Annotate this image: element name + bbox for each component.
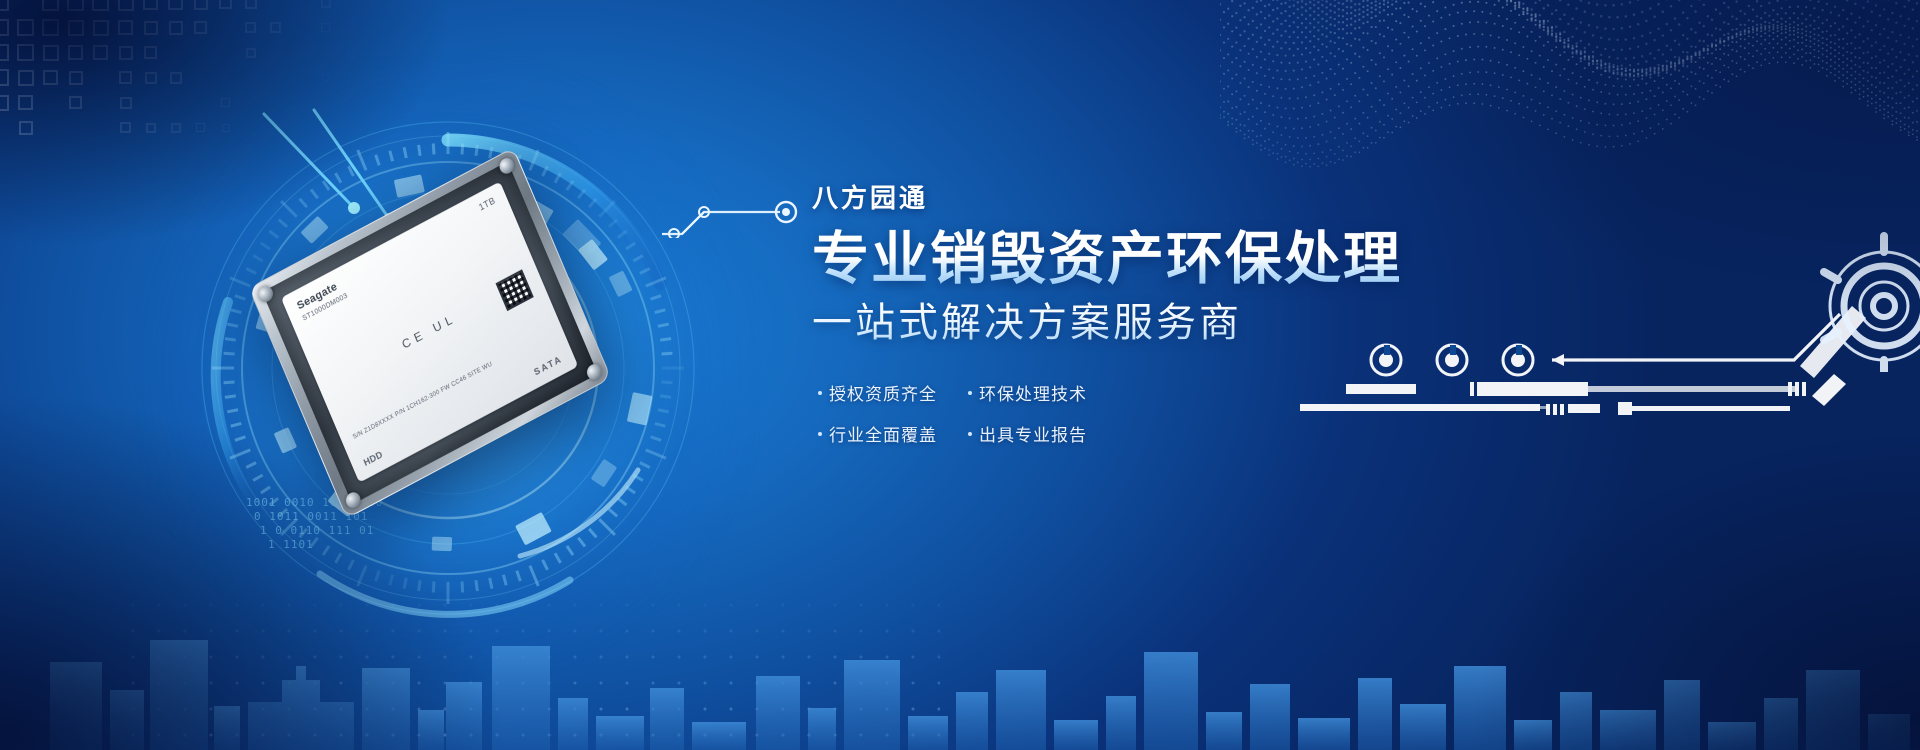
bullet-dot-icon (818, 391, 822, 395)
mosaic-square (69, 71, 83, 85)
feature-item: 出具专业报告 (968, 421, 1096, 446)
mosaic-square (0, 0, 9, 11)
feature-label: 出具专业报告 (979, 421, 1087, 446)
mosaic-square (0, 44, 9, 61)
feature-label: 行业全面覆盖 (829, 421, 937, 446)
mosaic-square (347, 49, 355, 57)
mosaic-square (397, 24, 404, 31)
feature-item: 环保处理技术 (968, 380, 1096, 405)
qr-code-icon (496, 269, 534, 311)
mosaic-square (17, 19, 34, 36)
mosaic-square (68, 20, 84, 36)
mosaic-square (321, 23, 330, 32)
bullet-dot-icon (968, 432, 972, 436)
hero-copy: 八方园通 专业销毁资产环保处理 一站式解决方案服务商 授权资质齐全环保处理技术行… (812, 182, 1512, 446)
node-connector-line-icon (660, 178, 830, 238)
hdd-label-interface: SATA (532, 353, 563, 377)
bullet-dot-icon (818, 432, 822, 436)
mosaic-square (42, 19, 59, 36)
mosaic-square (0, 69, 9, 86)
mosaic-square (42, 0, 59, 11)
mosaic-square (119, 46, 133, 60)
mosaic-square (93, 45, 108, 60)
mosaic-square (245, 22, 256, 33)
mosaic-square (0, 19, 9, 36)
feature-item: 行业全面覆盖 (818, 421, 946, 446)
mosaic-square (194, 21, 207, 34)
hero-banner: 1001 0010 1001 100 0 1011 0011 101 1 0 0… (0, 0, 1920, 750)
mosaic-square (118, 0, 134, 11)
mosaic-square (18, 95, 33, 110)
mosaic-square (321, 0, 331, 8)
mosaic-square (245, 0, 257, 9)
mosaic-square (270, 22, 281, 33)
hdd-label-device: HDD (362, 449, 384, 468)
mosaic-square (422, 24, 429, 31)
mosaic-square (19, 121, 33, 135)
hdd-label-certifications: CE UL (400, 311, 459, 352)
hdd-label-capacity: 1TB (477, 195, 496, 212)
mosaic-square (118, 20, 133, 35)
mosaic-square (120, 122, 131, 133)
mosaic-square (69, 96, 82, 109)
mosaic-square (43, 70, 58, 85)
mosaic-square (92, 0, 109, 11)
feature-item: 授权资质齐全 (818, 380, 946, 405)
feature-label: 环保处理技术 (979, 380, 1087, 405)
brand-eyebrow: 八方园通 (812, 182, 1512, 215)
gear-wheel-icon (1814, 232, 1920, 372)
mosaic-square (67, 0, 84, 11)
mosaic-square (169, 21, 183, 35)
mosaic-square (219, 0, 232, 9)
mosaic-square (372, 49, 379, 56)
mosaic-square (43, 45, 59, 61)
mosaic-square (397, 0, 405, 7)
feature-list: 授权资质齐全环保处理技术行业全面覆盖出具专业报告 (818, 380, 1512, 446)
bullet-dot-icon (968, 391, 972, 395)
mosaic-square (371, 0, 380, 7)
mosaic-square (422, 0, 430, 7)
page-title: 专业销毁资产环保处理 (812, 229, 1512, 291)
mosaic-square (194, 0, 208, 10)
mosaic-square (144, 21, 158, 35)
mosaic-square (120, 97, 132, 109)
mosaic-square (119, 71, 132, 84)
mosaic-square (68, 45, 83, 60)
mosaic-square (0, 95, 9, 111)
mosaic-square (246, 48, 256, 58)
mosaic-square (398, 50, 404, 56)
feature-label: 授权资质齐全 (829, 380, 937, 405)
hero-subtitle: 一站式解决方案服务商 (812, 300, 1512, 346)
mosaic-square (143, 0, 158, 10)
city-skyline-icon (0, 520, 1920, 750)
mosaic-square (18, 70, 34, 86)
mosaic-square (168, 0, 183, 10)
mosaic-square (93, 20, 109, 36)
mosaic-square (17, 44, 34, 61)
